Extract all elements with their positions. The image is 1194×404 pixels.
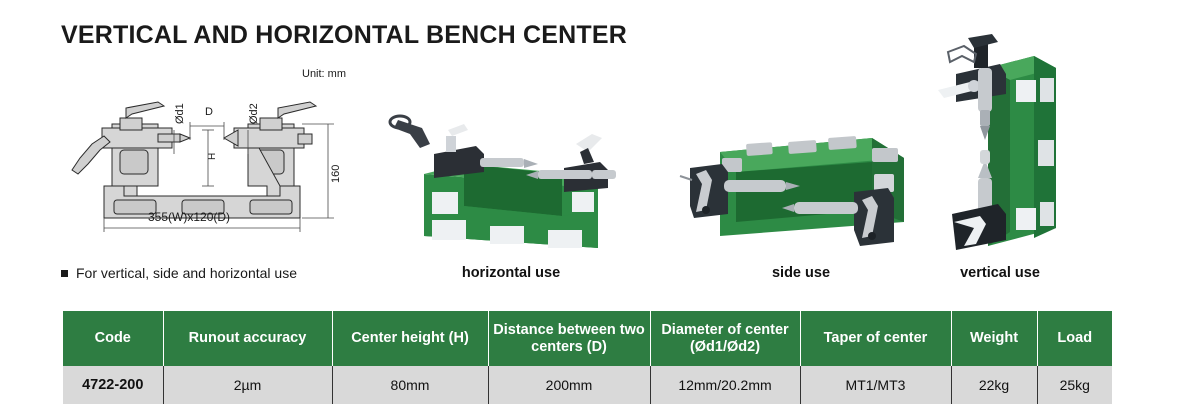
- dimension-label-distance: D: [205, 106, 213, 118]
- cell-runout-accuracy: 2µm: [163, 366, 332, 404]
- column-header-code: Code: [63, 311, 163, 366]
- table-row: 4722-200 2µm 80mm 200mm 12mm/20.2mm MT1/…: [63, 366, 1112, 404]
- column-header-diameter-of-center: Diameter of center (Ød1/Ød2): [650, 311, 800, 366]
- dimension-label-height: H: [207, 153, 218, 160]
- technical-drawing: Unit: mm: [62, 68, 352, 233]
- column-header-distance-between-centers: Distance between two centers (D): [488, 311, 650, 366]
- page-title: VERTICAL AND HORIZONTAL BENCH CENTER: [61, 21, 627, 50]
- photo-caption-vertical: vertical use: [905, 265, 1095, 281]
- column-header-load: Load: [1037, 311, 1112, 366]
- cell-weight: 22kg: [951, 366, 1037, 404]
- cell-code: 4722-200: [63, 366, 163, 404]
- specification-table: Code Runout accuracy Center height (H) D…: [63, 311, 1112, 404]
- column-header-weight: Weight: [951, 311, 1037, 366]
- cell-center-height: 80mm: [332, 366, 488, 404]
- cell-distance-between-centers: 200mm: [488, 366, 650, 404]
- product-photo-vertical-use: [930, 32, 1070, 256]
- feature-note-text: For vertical, side and horizontal use: [76, 265, 297, 281]
- product-photo-side-use: [676, 118, 926, 256]
- feature-note: For vertical, side and horizontal use: [61, 265, 297, 281]
- dimension-label-overall-height: 160: [330, 165, 342, 183]
- photo-caption-horizontal: horizontal use: [386, 265, 636, 281]
- cell-load: 25kg: [1037, 366, 1112, 404]
- table-header-row: Code Runout accuracy Center height (H) D…: [63, 311, 1112, 366]
- bullet-square-icon: [61, 270, 68, 277]
- cell-taper-of-center: MT1/MT3: [800, 366, 951, 404]
- column-header-taper-of-center: Taper of center: [800, 311, 951, 366]
- dimension-label-footprint: 355(W)x120(D): [148, 210, 230, 224]
- cell-diameter-of-center: 12mm/20.2mm: [650, 366, 800, 404]
- dimension-label-d1: Ød1: [174, 103, 186, 124]
- column-header-center-height: Center height (H): [332, 311, 488, 366]
- photo-caption-side: side use: [676, 265, 926, 281]
- product-photo-horizontal-use: [386, 96, 636, 256]
- dimension-label-d2: Ød2: [248, 103, 260, 124]
- column-header-runout-accuracy: Runout accuracy: [163, 311, 332, 366]
